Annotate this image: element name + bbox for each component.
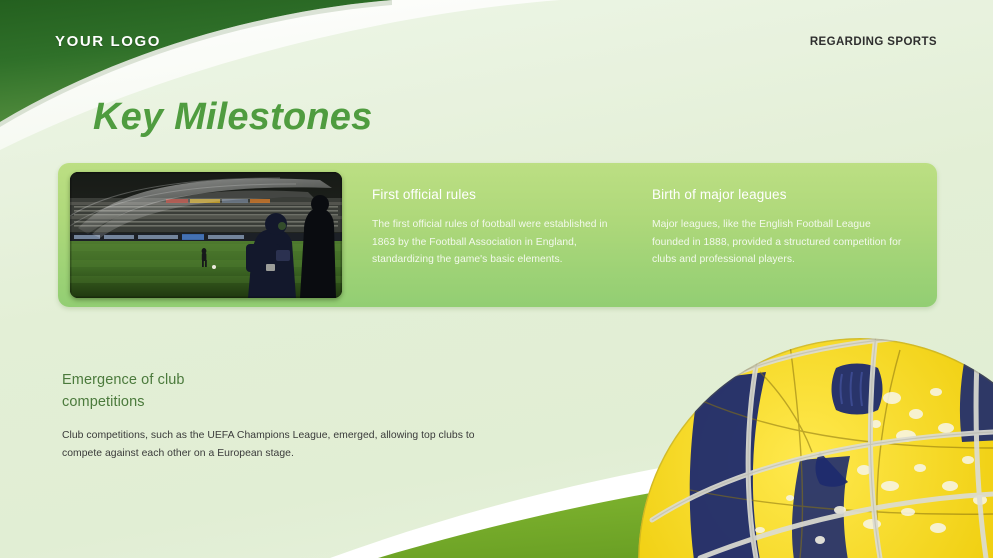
lower-section-title: Emergence of club competitions — [62, 369, 252, 413]
milestone-title-2: Birth of major leagues — [652, 187, 907, 202]
milestone-title-1: First official rules — [372, 187, 622, 202]
lower-section-body: Club competitions, such as the UEFA Cham… — [62, 427, 507, 463]
football-image — [636, 334, 993, 558]
milestone-body-2: Major leagues, like the English Football… — [652, 216, 907, 269]
stadium-photo-art — [70, 172, 342, 298]
milestone-body-1: The first official rules of football wer… — [372, 216, 622, 269]
milestone-column-2: Birth of major leagues Major leagues, li… — [652, 187, 907, 269]
stadium-photo — [70, 172, 342, 298]
page-title: Key Milestones — [93, 96, 372, 139]
lower-section: Emergence of club competitions Club comp… — [62, 369, 507, 463]
milestones-card: First official rules The first official … — [58, 163, 937, 307]
milestone-column-1: First official rules The first official … — [372, 187, 622, 269]
eyebrow-label: REGARDING SPORTS — [810, 36, 937, 48]
logo[interactable]: YOUR LOGO — [55, 33, 161, 50]
slide-canvas: YOUR LOGO REGARDING SPORTS Key Milestone… — [0, 0, 993, 558]
